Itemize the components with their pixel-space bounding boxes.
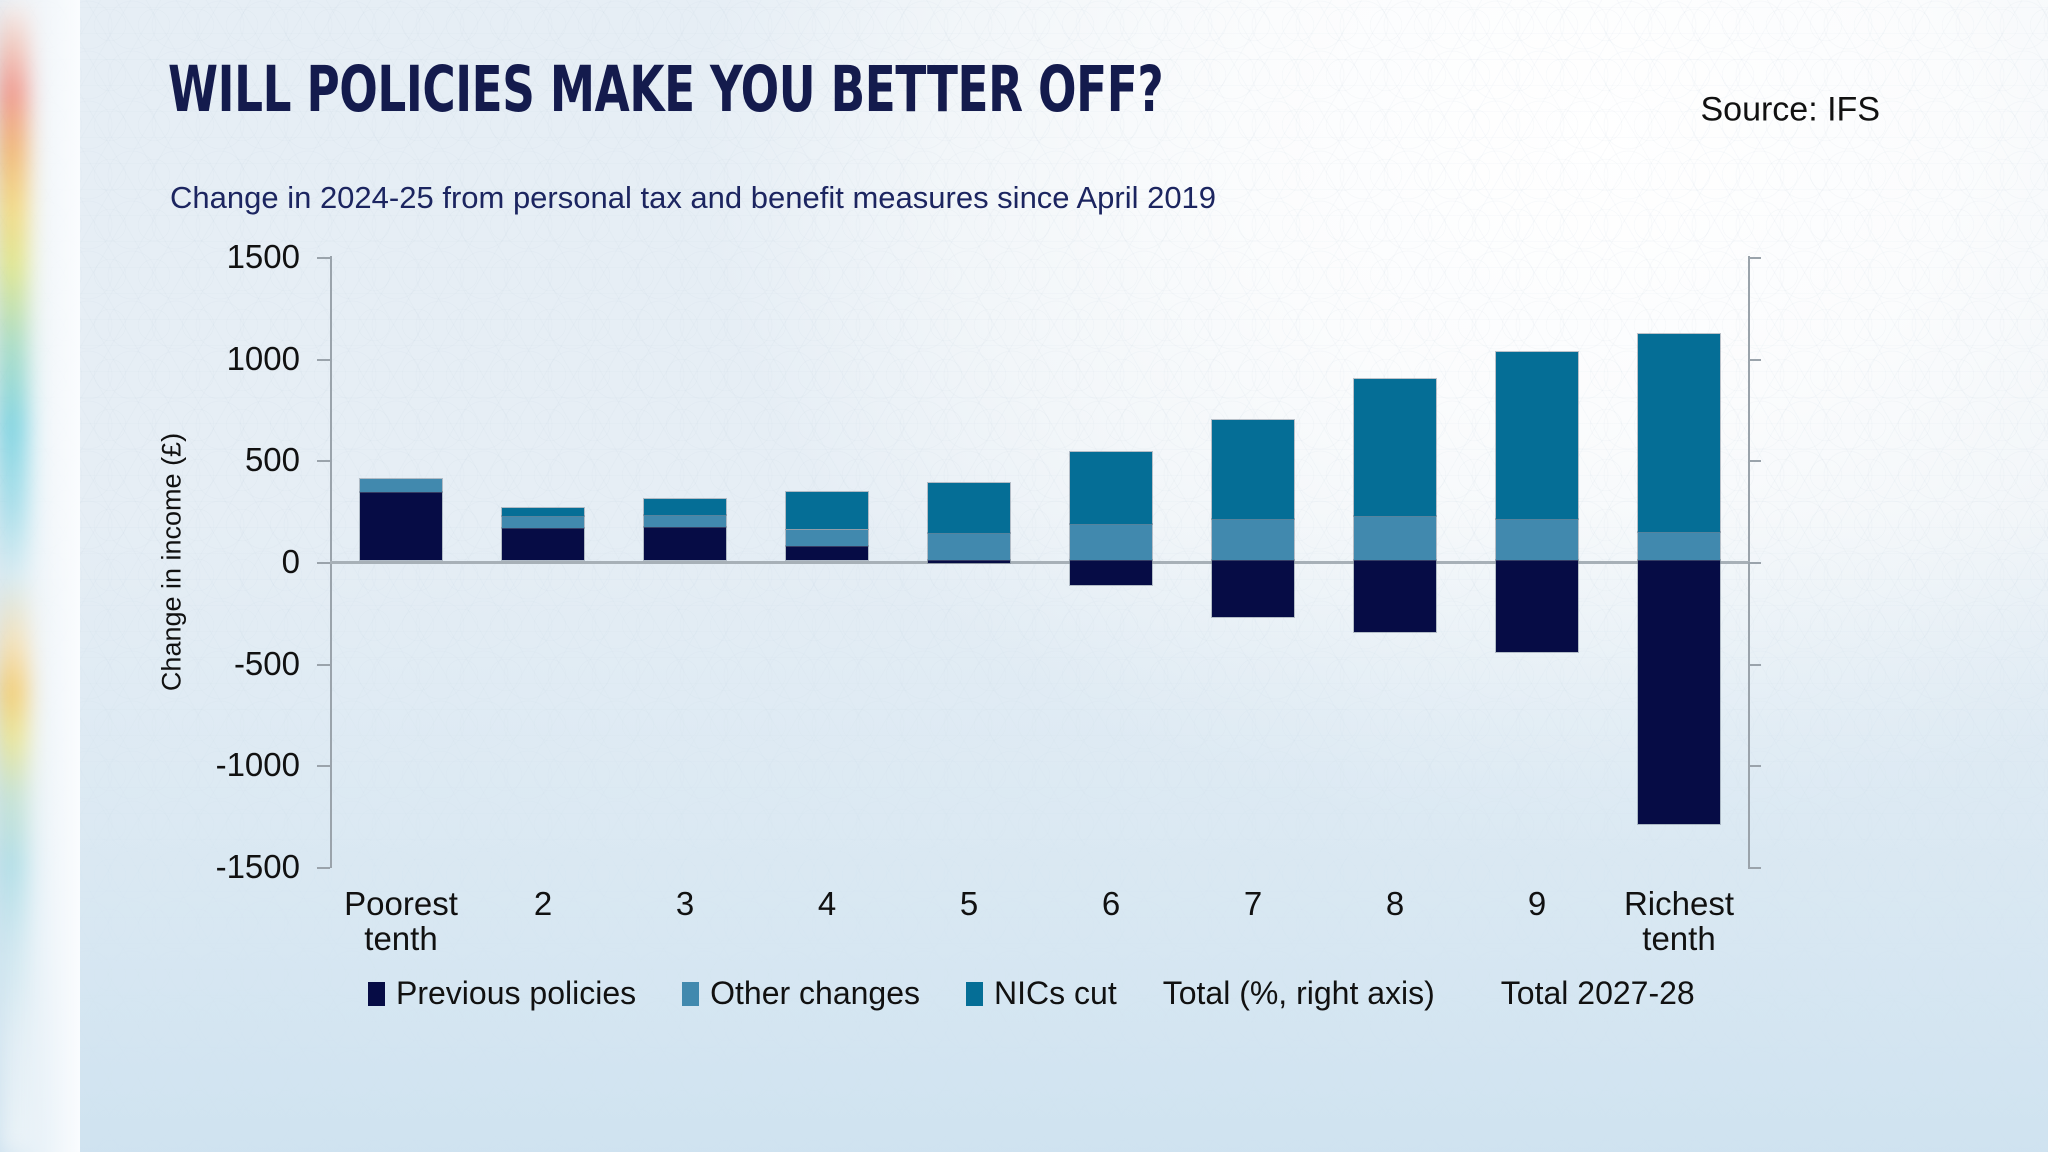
bar-group[interactable] xyxy=(1212,255,1294,865)
x-axis-label-line: 9 xyxy=(1528,887,1546,922)
x-axis-label-line: Richest xyxy=(1624,887,1734,922)
x-axis-label-line: Poorest xyxy=(344,887,458,922)
chart-legend: Previous policiesOther changesNICs cutTo… xyxy=(368,975,1761,1012)
y-tick-label: 1000 xyxy=(160,340,300,378)
legend-item[interactable]: Other changes xyxy=(682,975,920,1012)
bar-segment[interactable] xyxy=(786,492,868,530)
legend-item[interactable]: Total 2027-28 xyxy=(1501,975,1695,1012)
x-axis-label: 4 xyxy=(818,887,836,922)
x-axis-label-line: 8 xyxy=(1386,887,1404,922)
y-tick-mark xyxy=(317,867,330,869)
bar-group[interactable] xyxy=(1070,255,1152,865)
bar-segment[interactable] xyxy=(1354,379,1436,516)
source-label: Source: IFS xyxy=(1700,91,1880,130)
bar-segment[interactable] xyxy=(1354,516,1436,560)
bar-group[interactable] xyxy=(1638,255,1720,865)
bar-group[interactable] xyxy=(1354,255,1436,865)
x-axis-label: 8 xyxy=(1386,887,1404,922)
y-axis-tick-labels: 150010005000-500-1000-1500 xyxy=(160,0,300,1152)
legend-item[interactable]: Total (%, right axis) xyxy=(1163,975,1435,1012)
plot-area xyxy=(330,255,1750,870)
x-axis-label: 6 xyxy=(1102,887,1120,922)
x-axis-label-line: tenth xyxy=(1624,922,1734,957)
bar-segment[interactable] xyxy=(1638,334,1720,531)
x-axis-label: 7 xyxy=(1244,887,1262,922)
legend-swatch-icon xyxy=(966,982,983,1006)
rainbow-fade-overlay xyxy=(0,0,80,1152)
x-axis-label-line: 6 xyxy=(1102,887,1120,922)
bar-segment[interactable] xyxy=(1070,560,1152,585)
x-axis-label-line: 3 xyxy=(676,887,694,922)
legend-item[interactable]: Previous policies xyxy=(368,975,636,1012)
bar-group[interactable] xyxy=(928,255,1010,865)
x-axis-label: 9 xyxy=(1528,887,1546,922)
bar-group[interactable] xyxy=(360,255,442,865)
bar-group[interactable] xyxy=(502,255,584,865)
x-axis-label-line: 5 xyxy=(960,887,978,922)
x-axis-label: 2 xyxy=(534,887,552,922)
bar-segment[interactable] xyxy=(1496,352,1578,520)
y-tick-mark xyxy=(317,359,330,361)
bar-segment[interactable] xyxy=(1354,560,1436,632)
bar-group[interactable] xyxy=(1496,255,1578,865)
y-tick-mark xyxy=(317,562,330,564)
bar-segment[interactable] xyxy=(928,560,1010,563)
legend-label: Previous policies xyxy=(396,975,636,1012)
bar-segment[interactable] xyxy=(644,499,726,515)
x-axis-label-line: 4 xyxy=(818,887,836,922)
bar-segment[interactable] xyxy=(928,533,1010,560)
y-tick-label: -1000 xyxy=(160,746,300,784)
bar-segment[interactable] xyxy=(1070,452,1152,524)
bar-segment[interactable] xyxy=(360,479,442,492)
bar-group[interactable] xyxy=(644,255,726,865)
bar-segment[interactable] xyxy=(1212,420,1294,520)
x-axis-label-line: 2 xyxy=(534,887,552,922)
y-tick-label: 500 xyxy=(160,441,300,479)
legend-label: NICs cut xyxy=(994,975,1117,1012)
y-tick-mark xyxy=(317,257,330,259)
x-axis-label: Richesttenth xyxy=(1624,887,1734,956)
bar-segment[interactable] xyxy=(1496,560,1578,652)
x-axis-label: 5 xyxy=(960,887,978,922)
bar-segment[interactable] xyxy=(928,483,1010,533)
x-axis-label: 3 xyxy=(676,887,694,922)
bar-segment[interactable] xyxy=(1638,560,1720,824)
chart-subtitle: Change in 2024-25 from personal tax and … xyxy=(170,180,1216,216)
bar-segment[interactable] xyxy=(786,546,868,560)
legend-label: Total 2027-28 xyxy=(1501,975,1695,1012)
bar-segment[interactable] xyxy=(1070,524,1152,560)
legend-label: Total (%, right axis) xyxy=(1163,975,1435,1012)
y-tick-mark xyxy=(317,664,330,666)
y-tick-mark xyxy=(317,765,330,767)
bar-segment[interactable] xyxy=(644,527,726,560)
y-tick-label: 0 xyxy=(160,543,300,581)
bar-segment[interactable] xyxy=(644,515,726,527)
legend-item[interactable]: NICs cut xyxy=(966,975,1117,1012)
bar-segment[interactable] xyxy=(502,508,584,516)
y-tick-label: 1500 xyxy=(160,238,300,276)
bar-segment[interactable] xyxy=(1212,560,1294,617)
legend-swatch-icon xyxy=(682,982,699,1006)
bar-segment[interactable] xyxy=(502,516,584,528)
bar-segment[interactable] xyxy=(1638,532,1720,560)
legend-swatch-icon xyxy=(368,982,385,1006)
legend-label: Other changes xyxy=(710,975,920,1012)
bar-segment[interactable] xyxy=(786,530,868,546)
bar-group[interactable] xyxy=(786,255,868,865)
chart-title: WILL POLICIES MAKE YOU BETTER OFF? xyxy=(168,58,1163,121)
bar-segment[interactable] xyxy=(502,528,584,560)
x-axis-label-line: tenth xyxy=(344,922,458,957)
bar-segment[interactable] xyxy=(360,492,442,560)
y-tick-label: -1500 xyxy=(160,848,300,886)
y-tick-mark xyxy=(317,460,330,462)
bar-segment[interactable] xyxy=(1212,519,1294,560)
x-axis-label: Pooresttenth xyxy=(344,887,458,956)
bar-segment[interactable] xyxy=(1496,519,1578,560)
y-tick-label: -500 xyxy=(160,645,300,683)
x-axis-label-line: 7 xyxy=(1244,887,1262,922)
